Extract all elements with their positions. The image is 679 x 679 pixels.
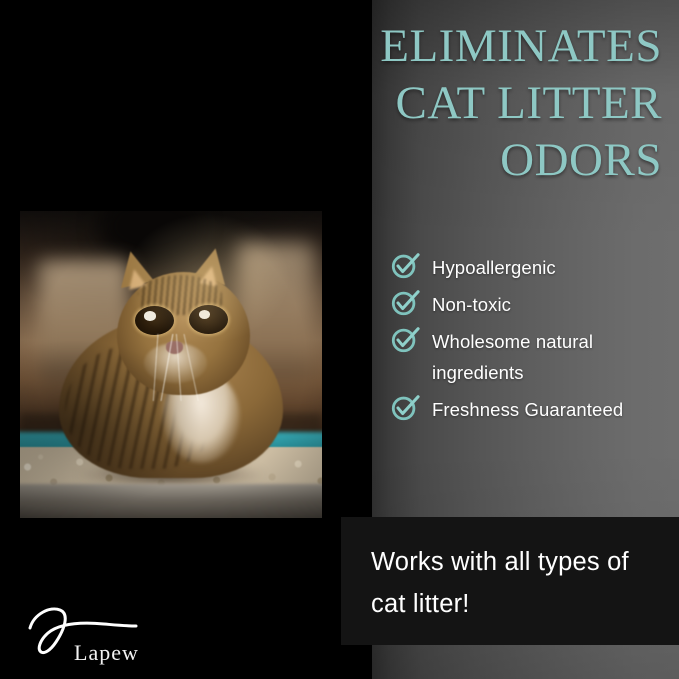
list-item: Wholesome natural ingredients — [390, 326, 675, 388]
check-circle-icon — [390, 287, 420, 317]
list-item: Non-toxic — [390, 289, 675, 320]
callout-panel: Works with all types of cat litter! — [341, 517, 679, 645]
list-item: Freshness Guaranteed — [390, 394, 675, 425]
logo-wordmark: Lapew — [74, 640, 139, 666]
kitten-nose — [166, 341, 183, 353]
kitten-eye-right — [189, 305, 228, 334]
feature-list: Hypoallergenic Non-toxic Wholesome natur… — [390, 252, 675, 431]
headline-line-1: ELIMINATES — [300, 18, 662, 75]
list-item: Hypoallergenic — [390, 252, 675, 283]
feature-label: Hypoallergenic — [432, 252, 556, 283]
headline-line-3: ODORS — [300, 132, 662, 189]
check-circle-icon — [390, 324, 420, 354]
headline: ELIMINATES CAT LITTER ODORS — [300, 18, 662, 189]
feature-label: Non-toxic — [432, 289, 511, 320]
headline-line-2: CAT LITTER — [300, 75, 662, 132]
check-circle-icon — [390, 392, 420, 422]
callout-text: Works with all types of cat litter! — [371, 541, 661, 625]
brand-logo: Lapew — [24, 600, 174, 670]
kitten-litter-box-photo — [20, 211, 322, 518]
feature-label: Freshness Guaranteed — [432, 394, 623, 425]
check-circle-icon — [390, 250, 420, 280]
feature-label: Wholesome natural ingredients — [432, 326, 675, 388]
kitten — [20, 211, 322, 518]
advertisement-root: ELIMINATES CAT LITTER ODORS — [0, 0, 679, 679]
